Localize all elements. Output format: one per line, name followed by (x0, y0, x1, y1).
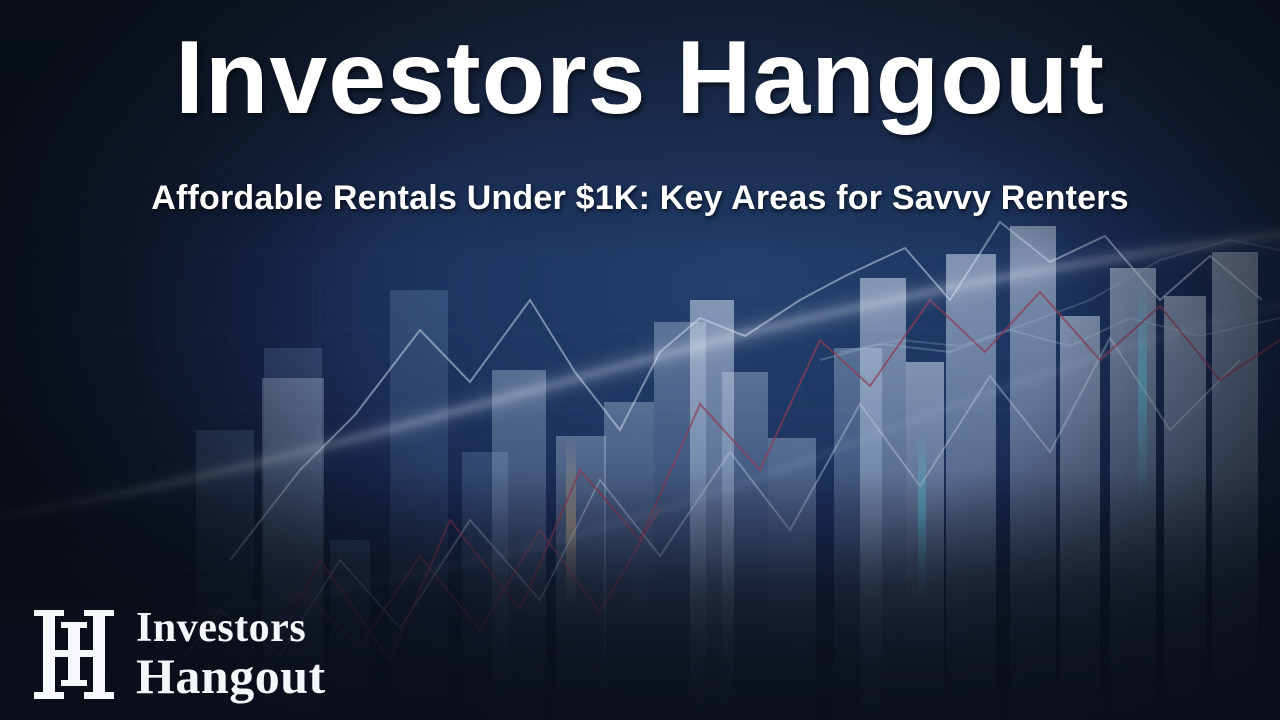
title-block: Investors Hangout (0, 22, 1280, 134)
ih-monogram-icon (28, 606, 120, 702)
page-subtitle: Affordable Rentals Under $1K: Key Areas … (0, 178, 1280, 219)
page-title: Investors Hangout (0, 22, 1280, 134)
brand-logo[interactable]: Investors Hangout (28, 606, 326, 702)
logo-wordmark: Investors Hangout (136, 607, 326, 702)
promo-banner: Investors Hangout Affordable Rentals Und… (0, 0, 1280, 720)
logo-line-investors: Investors (136, 607, 326, 649)
logo-line-hangout: Hangout (136, 651, 326, 702)
